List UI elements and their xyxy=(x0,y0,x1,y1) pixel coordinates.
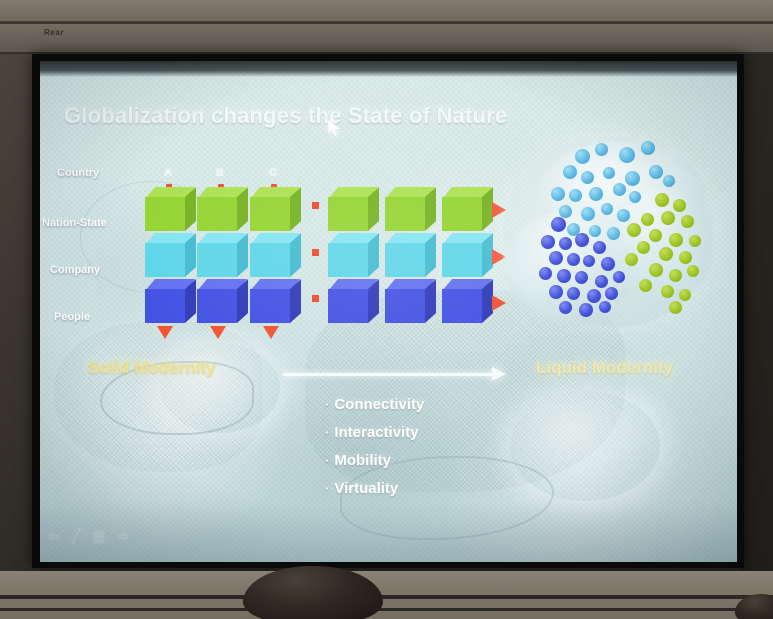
blob-sphere-nation-state xyxy=(625,253,638,266)
blob-sphere-people xyxy=(575,271,588,284)
bullet-label: Mobility xyxy=(334,452,391,469)
blob-sphere-nation-state xyxy=(673,199,686,212)
row-label-company: Company xyxy=(50,264,100,276)
cube-face xyxy=(328,197,368,231)
wall-panel-top xyxy=(0,0,773,22)
blob-sphere-people xyxy=(551,217,566,232)
cube-face xyxy=(145,243,185,277)
blob-sphere-people xyxy=(605,287,618,300)
blob-sphere-company xyxy=(551,187,565,201)
caption-liquid-modernity: Liquid Modernity xyxy=(536,358,673,378)
cube-face xyxy=(385,197,425,231)
caption-solid-modernity: Solid Modernity xyxy=(88,358,216,378)
cube-face xyxy=(145,289,185,323)
cube-face xyxy=(250,243,290,277)
blob-sphere-company xyxy=(625,171,640,186)
blob-sphere-people xyxy=(595,275,608,288)
blob-sphere-nation-state xyxy=(661,211,675,225)
blob-sphere-people xyxy=(601,257,615,271)
bullet-label: Connectivity xyxy=(334,396,424,413)
bullet-list: ·Connectivity ·Interactivity ·Mobility ·… xyxy=(325,396,424,508)
bullet-marker: · xyxy=(325,453,329,468)
blob-sphere-company xyxy=(629,191,641,203)
cube-face xyxy=(197,243,237,277)
wall-band xyxy=(0,24,773,52)
blob-sphere-people xyxy=(583,255,595,267)
projection-screen: Globalization changes the State of Natur… xyxy=(40,61,737,562)
list-item: ·Connectivity xyxy=(325,396,424,413)
blob-sphere-nation-state xyxy=(669,269,682,282)
bullet-marker: · xyxy=(325,397,329,412)
blob-sphere-company xyxy=(641,141,655,155)
list-item: ·Mobility xyxy=(325,452,424,469)
blob-sphere-company xyxy=(619,147,635,163)
left-stub-nation-state xyxy=(312,202,319,209)
row-label-nation-state: Nation-State xyxy=(42,217,107,229)
wall-right-block xyxy=(740,54,773,574)
wall-seam-upper xyxy=(0,22,773,24)
screen-letterbox-band xyxy=(40,61,737,77)
blob-sphere-people xyxy=(567,287,580,300)
blob-sphere-nation-state xyxy=(681,215,694,228)
row-label-country: Country xyxy=(57,167,99,179)
cube-face xyxy=(197,197,237,231)
blob-sphere-nation-state xyxy=(679,289,691,301)
bullet-label: Virtuality xyxy=(334,480,398,497)
blob-sphere-company xyxy=(613,183,626,196)
blob-sphere-nation-state xyxy=(627,223,641,237)
blob-sphere-company xyxy=(589,225,601,237)
desk-edge-line-lower xyxy=(0,608,773,611)
blob-sphere-company xyxy=(581,207,595,221)
column-header-c: C xyxy=(269,167,277,179)
list-item: ·Virtuality xyxy=(325,480,424,497)
column-header-a: A xyxy=(164,167,172,179)
blob-sphere-nation-state xyxy=(687,265,699,277)
down-arrow-b-icon xyxy=(210,326,226,339)
blob-sphere-nation-state xyxy=(649,263,663,277)
blob-sphere-people xyxy=(587,289,601,303)
blob-sphere-nation-state xyxy=(659,247,673,261)
bullet-marker: · xyxy=(325,481,329,496)
cube-face xyxy=(385,243,425,277)
down-arrow-a-icon xyxy=(157,326,173,339)
liquid-modernity-blob xyxy=(503,137,713,327)
cube-face xyxy=(250,197,290,231)
blob-sphere-nation-state xyxy=(661,285,674,298)
cube-face xyxy=(197,289,237,323)
left-stub-company xyxy=(312,249,319,256)
slide-title: Globalization changes the State of Natur… xyxy=(64,103,507,129)
cube-face xyxy=(328,243,368,277)
blob-sphere-people xyxy=(559,237,572,250)
blob-sphere-company xyxy=(595,143,608,156)
blob-sphere-company xyxy=(563,165,577,179)
blob-sphere-company xyxy=(649,165,663,179)
blob-sphere-people xyxy=(593,241,606,254)
transition-arrow-shaft xyxy=(283,373,495,376)
cube-face xyxy=(442,243,482,277)
cube-face xyxy=(442,197,482,231)
rear-sign-text: Rear xyxy=(44,28,64,37)
blob-sphere-people xyxy=(579,303,593,317)
desk-edge-line-upper xyxy=(0,595,773,599)
screen-bottom-dim xyxy=(40,502,737,562)
blob-sphere-company xyxy=(607,227,620,240)
blob-sphere-company xyxy=(663,175,675,187)
blob-sphere-company xyxy=(559,205,572,218)
column-header-b: B xyxy=(216,167,224,179)
blob-sphere-nation-state xyxy=(641,213,654,226)
blob-sphere-company xyxy=(581,171,594,184)
blob-sphere-people xyxy=(541,235,555,249)
list-item: ·Interactivity xyxy=(325,424,424,441)
blob-sphere-nation-state xyxy=(689,235,701,247)
cube-face xyxy=(385,289,425,323)
left-stub-people xyxy=(312,295,319,302)
transition-arrow-head-icon xyxy=(492,367,506,381)
cube-face xyxy=(442,289,482,323)
blob-sphere-nation-state xyxy=(669,301,682,314)
blob-sphere-company xyxy=(569,189,582,202)
mouse-cursor-icon xyxy=(328,119,342,139)
cube-face xyxy=(145,197,185,231)
cube-face xyxy=(328,289,368,323)
blob-sphere-nation-state xyxy=(649,229,662,242)
blob-sphere-people xyxy=(549,285,563,299)
blob-sphere-company xyxy=(589,187,603,201)
blob-sphere-company xyxy=(575,149,590,164)
blob-sphere-people xyxy=(599,301,611,313)
blob-sphere-company xyxy=(617,209,630,222)
bullet-label: Interactivity xyxy=(334,424,418,441)
blob-sphere-nation-state xyxy=(669,233,683,247)
blob-sphere-nation-state xyxy=(639,279,652,292)
blob-sphere-nation-state xyxy=(637,241,650,254)
blob-sphere-people xyxy=(559,301,572,314)
blob-sphere-people xyxy=(575,233,589,247)
blob-sphere-people xyxy=(567,253,580,266)
blob-sphere-people xyxy=(613,271,625,283)
blob-sphere-people xyxy=(557,269,571,283)
blob-sphere-company xyxy=(601,203,613,215)
corner-faint-text: ····· xyxy=(759,5,767,10)
cube-face xyxy=(250,289,290,323)
blob-sphere-people xyxy=(539,267,552,280)
blob-sphere-company xyxy=(603,167,615,179)
photograph-of-projected-slide: Rear ····· Globalization changes the Sta… xyxy=(0,0,773,619)
down-arrow-c-icon xyxy=(263,326,279,339)
blob-sphere-nation-state xyxy=(655,193,669,207)
bullet-marker: · xyxy=(325,425,329,440)
row-label-people: People xyxy=(54,311,90,323)
blob-sphere-nation-state xyxy=(679,251,692,264)
blob-sphere-people xyxy=(549,251,563,265)
